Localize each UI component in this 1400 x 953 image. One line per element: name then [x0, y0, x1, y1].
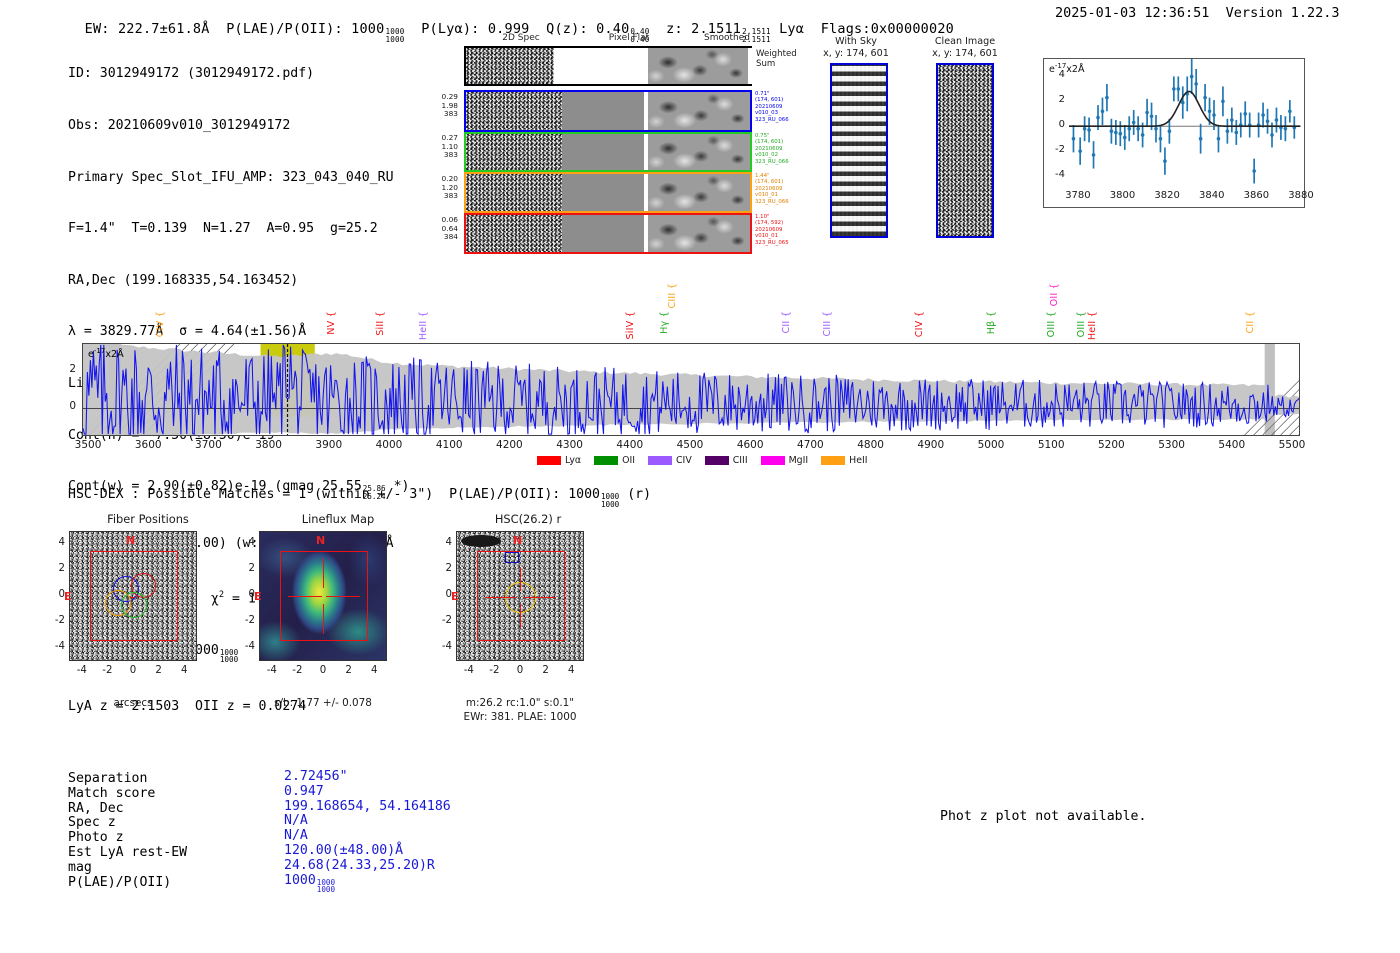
spectrum-legend: LyαOIICIVCIIIMgIIHeII [537, 455, 868, 466]
spectrum-xtick: 3500 [68, 439, 108, 451]
hsc-r-ytick: 4 [434, 537, 452, 548]
emission-line-label: CII { [1245, 311, 1256, 334]
fiber-positions-ytick: 2 [47, 563, 65, 574]
spectrum-xtick: 3800 [249, 439, 289, 451]
info-primary-spec: Primary Spec_Slot_IFU_AMP: 323_043_040_R… [68, 169, 409, 186]
weighted-sum-pixelflat-image [554, 48, 644, 84]
row1-smoothed-image [648, 134, 750, 170]
spectrum-xtick: 4000 [369, 439, 409, 451]
clean-image-title: Clean Image x, y: 174, 601 [913, 36, 1017, 59]
hsc-r-image [456, 531, 584, 661]
line-profile-ytick: 0 [1047, 119, 1065, 130]
emission-line-label: SiIV { [625, 311, 636, 340]
lineflux-map-ytick: -2 [237, 615, 255, 626]
fiber-positions-xtick: -2 [93, 665, 121, 676]
hsc-r-xtick: 2 [532, 665, 560, 676]
hsc-r-caption-2: EWr: 381. PLAE: 1000 [446, 711, 594, 724]
match-table-label: Spec z [68, 816, 116, 831]
lineflux-map-ytick: -4 [237, 641, 255, 652]
line-profile-xtick: 3820 [1145, 190, 1189, 201]
legend-swatch [705, 456, 729, 465]
match-table-label: Match score [68, 787, 155, 802]
lineflux-map-xtick: 0 [309, 665, 337, 676]
line-profile-xtick: 3860 [1234, 190, 1278, 201]
spectrum-xtick: 5300 [1152, 439, 1192, 451]
twod-row-1-stats: 0.27 1.10 383 [400, 134, 458, 160]
lineflux-map-ytick: 2 [237, 563, 255, 574]
header-flags: Flags:0x00000020 [821, 21, 954, 37]
twod-col-title-2dspec: 2D Spec [466, 33, 576, 43]
match-table-value: 120.00(±48.00)Å [284, 844, 403, 859]
spectrum-xtick: 4900 [911, 439, 951, 451]
legend-swatch [648, 456, 672, 465]
twod-row-1 [464, 132, 752, 172]
emission-line-label: HeII { [1087, 311, 1098, 340]
legend-swatch [821, 456, 845, 465]
line-profile-xtick: 3780 [1056, 190, 1100, 201]
info-obs: Obs: 20210609v010_3012949172 [68, 117, 409, 134]
twod-row-3-meta: 1.10" (174, 592) 20210609 v010_01 323_RU… [755, 214, 789, 246]
hsc-bright-source [461, 535, 501, 547]
twod-row-0-meta: 0.71" (174, 601) 20210609 v010_03 323_RU… [755, 91, 789, 123]
row2-pixelflat-image [562, 174, 644, 211]
emission-line-label: OIII { [1076, 311, 1087, 337]
emission-line-label: OII { [1049, 283, 1060, 306]
legend-label: Lyα [565, 455, 581, 466]
info-plae-range: 10001000 [220, 649, 238, 664]
spectrum-xtick: 3900 [309, 439, 349, 451]
row3-smoothed-image [648, 215, 750, 252]
twod-row-weighted-sum [464, 46, 752, 86]
lineflux-cross-bottom [323, 604, 324, 634]
line-profile-ytick: -4 [1047, 169, 1065, 180]
row3-pixelflat-image [562, 215, 644, 252]
fiber-positions-image [69, 531, 197, 661]
row0-pixelflat-image [562, 92, 644, 130]
line-profile-xtick: 3880 [1279, 190, 1323, 201]
spectrum-xtick: 4800 [851, 439, 891, 451]
row0-2dspec-image [466, 92, 562, 130]
emission-line-label: SiII { [375, 311, 386, 336]
match-table-label: P(LAE)/P(OII) [68, 876, 171, 891]
twod-row-3-stats: 0.06 0.64 384 [400, 216, 458, 242]
spectrum-xtick: 4600 [730, 439, 770, 451]
hsc-r-xtick: -4 [455, 665, 483, 676]
row2-smoothed-image [648, 174, 750, 211]
legend-swatch [537, 456, 561, 465]
legend-label: CIV [676, 455, 692, 466]
emission-line-label: OIII { [1046, 311, 1057, 337]
twod-spec-section: 2D Spec Pixel Flat Smoothed Weighted Sum… [432, 33, 792, 258]
weighted-sum-label: Weighted Sum [756, 49, 797, 69]
center-marker [130, 597, 135, 598]
match-table-value: N/A [284, 829, 308, 844]
twod-row-0-stats: 0.29 1.98 383 [400, 93, 458, 119]
hsc-plae-range: 10001000 [601, 493, 619, 508]
hsc-r-ytick: -2 [434, 615, 452, 626]
line-profile-xtick: 3840 [1190, 190, 1234, 201]
spectrum-xtick: 4400 [610, 439, 650, 451]
line-profile-ytick: 2 [1047, 94, 1065, 105]
spectrum-svg [83, 344, 1299, 435]
hsc-cross-right [524, 597, 556, 598]
line-profile-ytick: -2 [1047, 144, 1065, 155]
with-sky-title: With Sky x, y: 174, 601 [808, 36, 904, 59]
lineflux-map-caption: s/b: 1.77 +/- 0.078 [249, 697, 397, 710]
weighted-sum-2dspec-image [466, 48, 554, 84]
match-table-value: N/A [284, 814, 308, 829]
spectrum-xtick: 5500 [1272, 439, 1312, 451]
legend-label: CIII [733, 455, 748, 466]
hsc-r-xtick: 0 [506, 665, 534, 676]
legend-swatch [594, 456, 618, 465]
spectrum-xtick: 4500 [670, 439, 710, 451]
emission-line-label: CII { [781, 311, 792, 334]
lineflux-cross-left [288, 596, 322, 597]
emission-line-label: Hβ { [986, 311, 997, 334]
twod-row-2-stats: 0.20 1.20 383 [400, 175, 458, 201]
match-table-value: 100010001000 [284, 874, 335, 894]
spectrum-ytick: 2 [60, 363, 76, 375]
line-profile-plot: e-17x2Å -4-2024378038003820384038603880 [1043, 58, 1305, 208]
spectrum-xtick: 4100 [429, 439, 469, 451]
hsc-neighbor-box [505, 552, 519, 563]
hsc-cross-top [520, 567, 521, 591]
emission-line-label: CIII { [667, 283, 678, 309]
twod-col-title-pixelflat: Pixel Flat [584, 33, 674, 43]
legend-item: CIII [705, 455, 748, 466]
lineflux-map-xtick: -2 [283, 665, 311, 676]
fiber-positions-xtick: 4 [170, 665, 198, 676]
spectrum-xtick: 3700 [188, 439, 228, 451]
legend-item: MgII [761, 455, 809, 466]
line-profile-svg [1043, 58, 1305, 208]
lineflux-map-xtick: -4 [258, 665, 286, 676]
legend-label: HeII [849, 455, 867, 466]
legend-item: HeII [821, 455, 867, 466]
match-table-value: 199.168654, 54.164186 [284, 800, 451, 815]
spectrum-xtick: 5000 [971, 439, 1011, 451]
hsc-dex-headline: HSC-DEX : Possible Matches = 1 (within +… [68, 487, 651, 508]
lineflux-cross-top [323, 558, 324, 588]
lineflux-cross-right [326, 596, 360, 597]
match-table-label: mag [68, 861, 92, 876]
info-seeing: F=1.4" T=0.139 N=1.27 A=0.95 g=25.2 [68, 220, 409, 237]
info-id: ID: 3012949172 (3012949172.pdf) [68, 65, 409, 82]
compass-e-fiber: E [64, 590, 72, 603]
legend-label: OII [622, 455, 635, 466]
match-table-value: 2.72456" [284, 770, 348, 785]
match-table-label: Photo z [68, 831, 124, 846]
row0-smoothed-image [648, 92, 750, 130]
spectrum-units-label: e-17x2Å [88, 347, 124, 360]
match-table-label: Est LyA rest-EW [68, 846, 187, 861]
panel-title-fiber-positions: Fiber Positions [38, 512, 258, 526]
emission-line-label: Hγ { [659, 311, 670, 334]
fiber-positions-ytick: -4 [47, 641, 65, 652]
row1-2dspec-image [466, 134, 562, 170]
lineflux-map-xtick: 2 [335, 665, 363, 676]
spectrum-xtick: 5400 [1212, 439, 1252, 451]
fiber-positions-ytick: 0 [47, 589, 65, 600]
line-profile-ytick: 4 [1047, 69, 1065, 80]
compass-n-hsc: N [513, 534, 522, 547]
emission-line-label: HeII { [418, 311, 429, 340]
compass-e-hsc: E [451, 590, 459, 603]
fiber-positions-ytick: 4 [47, 537, 65, 548]
fiber-circle-green [121, 592, 147, 618]
twod-row-1-meta: 0.75" (174, 601) 20210609 v010_02 323_RU… [755, 133, 789, 165]
line-profile-xtick: 3800 [1101, 190, 1145, 201]
spectrum-xtick: 4200 [489, 439, 529, 451]
compass-n-fiber: N [126, 534, 135, 547]
hsc-cross-left [485, 597, 517, 598]
spectrum-xtick: 4300 [550, 439, 590, 451]
emission-line-label: CIII { [822, 311, 833, 337]
with-sky-image [830, 63, 888, 238]
legend-swatch [761, 456, 785, 465]
legend-label: MgII [789, 455, 809, 466]
match-plae-range: 10001000 [317, 879, 335, 894]
panel-title-lineflux-map: Lineflux Map [228, 512, 448, 526]
spectrum-xtick: 5100 [1031, 439, 1071, 451]
lineflux-map-xtick: 4 [360, 665, 388, 676]
fiber-positions-ytick: -2 [47, 615, 65, 626]
hsc-r-xtick: -2 [480, 665, 508, 676]
emission-line-label: CIV { [155, 311, 166, 337]
spectrum-xtick: 5200 [1091, 439, 1131, 451]
row1-pixelflat-image [562, 134, 644, 170]
row3-2dspec-image [466, 215, 562, 252]
twod-row-2 [464, 172, 752, 213]
match-table-label: Separation [68, 772, 147, 787]
hsc-r-ytick: 0 [434, 589, 452, 600]
legend-item: CIV [648, 455, 692, 466]
hsc-cross-bottom [520, 604, 521, 628]
clean-image [936, 63, 994, 238]
lineflux-map-ytick: 0 [237, 589, 255, 600]
spectrum-xtick: 3600 [128, 439, 168, 451]
fiber-positions-caption: arcsecs [69, 697, 197, 710]
full-spectrum-plot: CIV {NV {SiII {HeII {SiIV {Hγ {CIII {CII… [82, 283, 1300, 473]
legend-item: Lyα [537, 455, 581, 466]
match-table-value: 24.68(24.33,25.20)R [284, 859, 435, 874]
twod-row-3 [464, 213, 752, 254]
seg-gap-right [748, 48, 754, 84]
compass-e-lineflux: E [254, 590, 262, 603]
spectrum-frame [82, 343, 1300, 436]
fiber-positions-xtick: 0 [119, 665, 147, 676]
twod-row-0 [464, 90, 752, 132]
twod-col-title-smoothed: Smoothed [682, 33, 772, 43]
legend-item: OII [594, 455, 635, 466]
emission-line-label: CIV { [914, 311, 925, 337]
hsc-r-ytick: -4 [434, 641, 452, 652]
photz-plot-message: Phot z plot not available. [940, 809, 1146, 824]
panel-title-hsc-r: HSC(26.2) r [418, 512, 638, 526]
row2-2dspec-image [466, 174, 562, 211]
match-table-label: RA, Dec [68, 802, 124, 817]
fiber-positions-xtick: -4 [68, 665, 96, 676]
spectrum-ytick: 0 [60, 400, 76, 412]
compass-n-lineflux: N [316, 534, 325, 547]
hsc-r-ytick: 2 [434, 563, 452, 574]
lineflux-map-ytick: 4 [237, 537, 255, 548]
emission-line-label: NV { [326, 311, 337, 335]
header-timestamp: 2025-01-03 12:36:51 Version 1.22.3 [1055, 5, 1339, 21]
fiber-positions-xtick: 2 [145, 665, 173, 676]
spectrum-xtick: 4700 [790, 439, 830, 451]
hsc-r-xtick: 4 [557, 665, 585, 676]
lineflux-map-image [259, 531, 387, 661]
weighted-sum-smoothed-image [648, 48, 748, 84]
match-table-value: 0.947 [284, 785, 324, 800]
hsc-r-caption-1: m:26.2 rc:1.0" s:0.1" [446, 697, 594, 710]
twod-row-2-meta: 1.44" (174, 601) 20210609 v010_01 323_RU… [755, 173, 789, 205]
